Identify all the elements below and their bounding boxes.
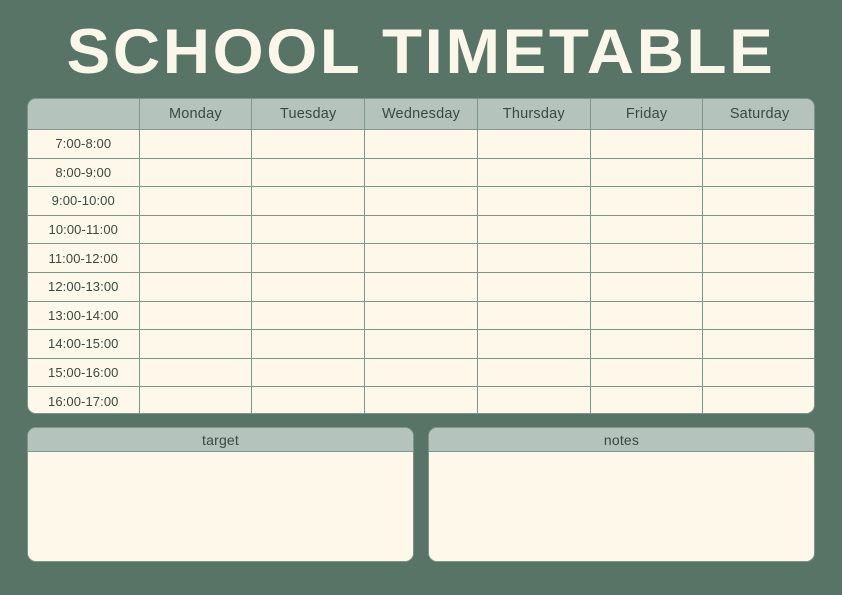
timetable-cell[interactable]	[139, 387, 252, 414]
timetable-row: 11:00-12:00	[28, 244, 815, 273]
time-slot-label: 7:00-8:00	[28, 130, 139, 159]
day-header-thursday: Thursday	[477, 99, 590, 130]
timetable-cell[interactable]	[365, 358, 478, 387]
timetable-row: 7:00-8:00	[28, 130, 815, 159]
target-textarea[interactable]	[28, 452, 413, 561]
day-header-saturday: Saturday	[703, 99, 815, 130]
timetable-cell[interactable]	[703, 215, 815, 244]
timetable-cell[interactable]	[365, 387, 478, 414]
timetable-cell[interactable]	[365, 187, 478, 216]
timetable-cell[interactable]	[703, 187, 815, 216]
timetable-cell[interactable]	[252, 330, 365, 359]
timetable-cell[interactable]	[365, 301, 478, 330]
timetable-cell[interactable]	[590, 301, 703, 330]
time-slot-label: 8:00-9:00	[28, 158, 139, 187]
timetable-container: Monday Tuesday Wednesday Thursday Friday…	[27, 98, 815, 414]
time-slot-label: 10:00-11:00	[28, 215, 139, 244]
timetable-cell[interactable]	[590, 387, 703, 414]
timetable-cell[interactable]	[590, 358, 703, 387]
timetable-row: 13:00-14:00	[28, 301, 815, 330]
timetable-cell[interactable]	[477, 158, 590, 187]
timetable-cell[interactable]	[139, 358, 252, 387]
time-slot-label: 14:00-15:00	[28, 330, 139, 359]
timetable-cell[interactable]	[477, 358, 590, 387]
timetable-cell[interactable]	[477, 215, 590, 244]
timetable-cell[interactable]	[139, 130, 252, 159]
timetable-cell[interactable]	[365, 272, 478, 301]
timetable-cell[interactable]	[365, 244, 478, 273]
timetable-cell[interactable]	[703, 358, 815, 387]
timetable-cell[interactable]	[477, 187, 590, 216]
timetable-row: 14:00-15:00	[28, 330, 815, 359]
timetable-row: 12:00-13:00	[28, 272, 815, 301]
timetable-cell[interactable]	[252, 215, 365, 244]
timetable-cell[interactable]	[139, 330, 252, 359]
target-panel-label: target	[202, 432, 239, 448]
time-slot-label: 11:00-12:00	[28, 244, 139, 273]
timetable-cell[interactable]	[252, 244, 365, 273]
target-panel: target	[27, 427, 414, 562]
timetable-cell[interactable]	[477, 244, 590, 273]
notes-panel-label: notes	[604, 432, 639, 448]
timetable-cell[interactable]	[252, 158, 365, 187]
timetable-cell[interactable]	[139, 187, 252, 216]
timetable-head: Monday Tuesday Wednesday Thursday Friday…	[28, 99, 815, 130]
timetable-row: 10:00-11:00	[28, 215, 815, 244]
time-slot-label: 13:00-14:00	[28, 301, 139, 330]
timetable-cell[interactable]	[139, 301, 252, 330]
timetable-cell[interactable]	[252, 301, 365, 330]
timetable-cell[interactable]	[590, 158, 703, 187]
timetable-cell[interactable]	[703, 301, 815, 330]
timetable-row: 9:00-10:00	[28, 187, 815, 216]
timetable-cell[interactable]	[590, 130, 703, 159]
timetable-cell[interactable]	[703, 387, 815, 414]
timetable-cell[interactable]	[252, 130, 365, 159]
day-header-monday: Monday	[139, 99, 252, 130]
timetable-cell[interactable]	[477, 387, 590, 414]
timetable-row: 8:00-9:00	[28, 158, 815, 187]
notes-panel: notes	[428, 427, 815, 562]
timetable-cell[interactable]	[477, 301, 590, 330]
day-header-friday: Friday	[590, 99, 703, 130]
day-header-tuesday: Tuesday	[252, 99, 365, 130]
timetable-cell[interactable]	[590, 187, 703, 216]
timetable-cell[interactable]	[703, 244, 815, 273]
timetable-cell[interactable]	[139, 272, 252, 301]
timetable-cell[interactable]	[252, 187, 365, 216]
time-slot-label: 12:00-13:00	[28, 272, 139, 301]
timetable-cell[interactable]	[590, 244, 703, 273]
timetable-cell[interactable]	[590, 272, 703, 301]
time-slot-label: 15:00-16:00	[28, 358, 139, 387]
timetable-cell[interactable]	[590, 215, 703, 244]
day-header-wednesday: Wednesday	[365, 99, 478, 130]
timetable-cell[interactable]	[477, 330, 590, 359]
timetable-cell[interactable]	[365, 215, 478, 244]
timetable-cell[interactable]	[703, 130, 815, 159]
target-panel-header: target	[28, 428, 413, 452]
notes-panel-header: notes	[429, 428, 814, 452]
timetable-cell[interactable]	[252, 272, 365, 301]
timetable-cell[interactable]	[703, 158, 815, 187]
timetable-cell[interactable]	[477, 272, 590, 301]
timetable: Monday Tuesday Wednesday Thursday Friday…	[28, 99, 815, 414]
timetable-cell[interactable]	[139, 244, 252, 273]
timetable-header-row: Monday Tuesday Wednesday Thursday Friday…	[28, 99, 815, 130]
timetable-cell[interactable]	[365, 330, 478, 359]
timetable-cell[interactable]	[139, 158, 252, 187]
timetable-cell[interactable]	[477, 130, 590, 159]
timetable-cell[interactable]	[365, 158, 478, 187]
timetable-cell[interactable]	[252, 387, 365, 414]
notes-textarea[interactable]	[429, 452, 814, 561]
timetable-body: 7:00-8:008:00-9:009:00-10:0010:00-11:001…	[28, 130, 815, 415]
timetable-row: 16:00-17:00	[28, 387, 815, 414]
timetable-row: 15:00-16:00	[28, 358, 815, 387]
time-slot-label: 9:00-10:00	[28, 187, 139, 216]
timetable-cell[interactable]	[139, 215, 252, 244]
timetable-cell[interactable]	[365, 130, 478, 159]
timetable-cell[interactable]	[703, 272, 815, 301]
timetable-cell[interactable]	[252, 358, 365, 387]
page-title: SCHOOL TIMETABLE	[0, 16, 842, 88]
timetable-cell[interactable]	[590, 330, 703, 359]
time-slot-label: 16:00-17:00	[28, 387, 139, 414]
timetable-cell[interactable]	[703, 330, 815, 359]
timetable-corner-header	[28, 99, 139, 130]
